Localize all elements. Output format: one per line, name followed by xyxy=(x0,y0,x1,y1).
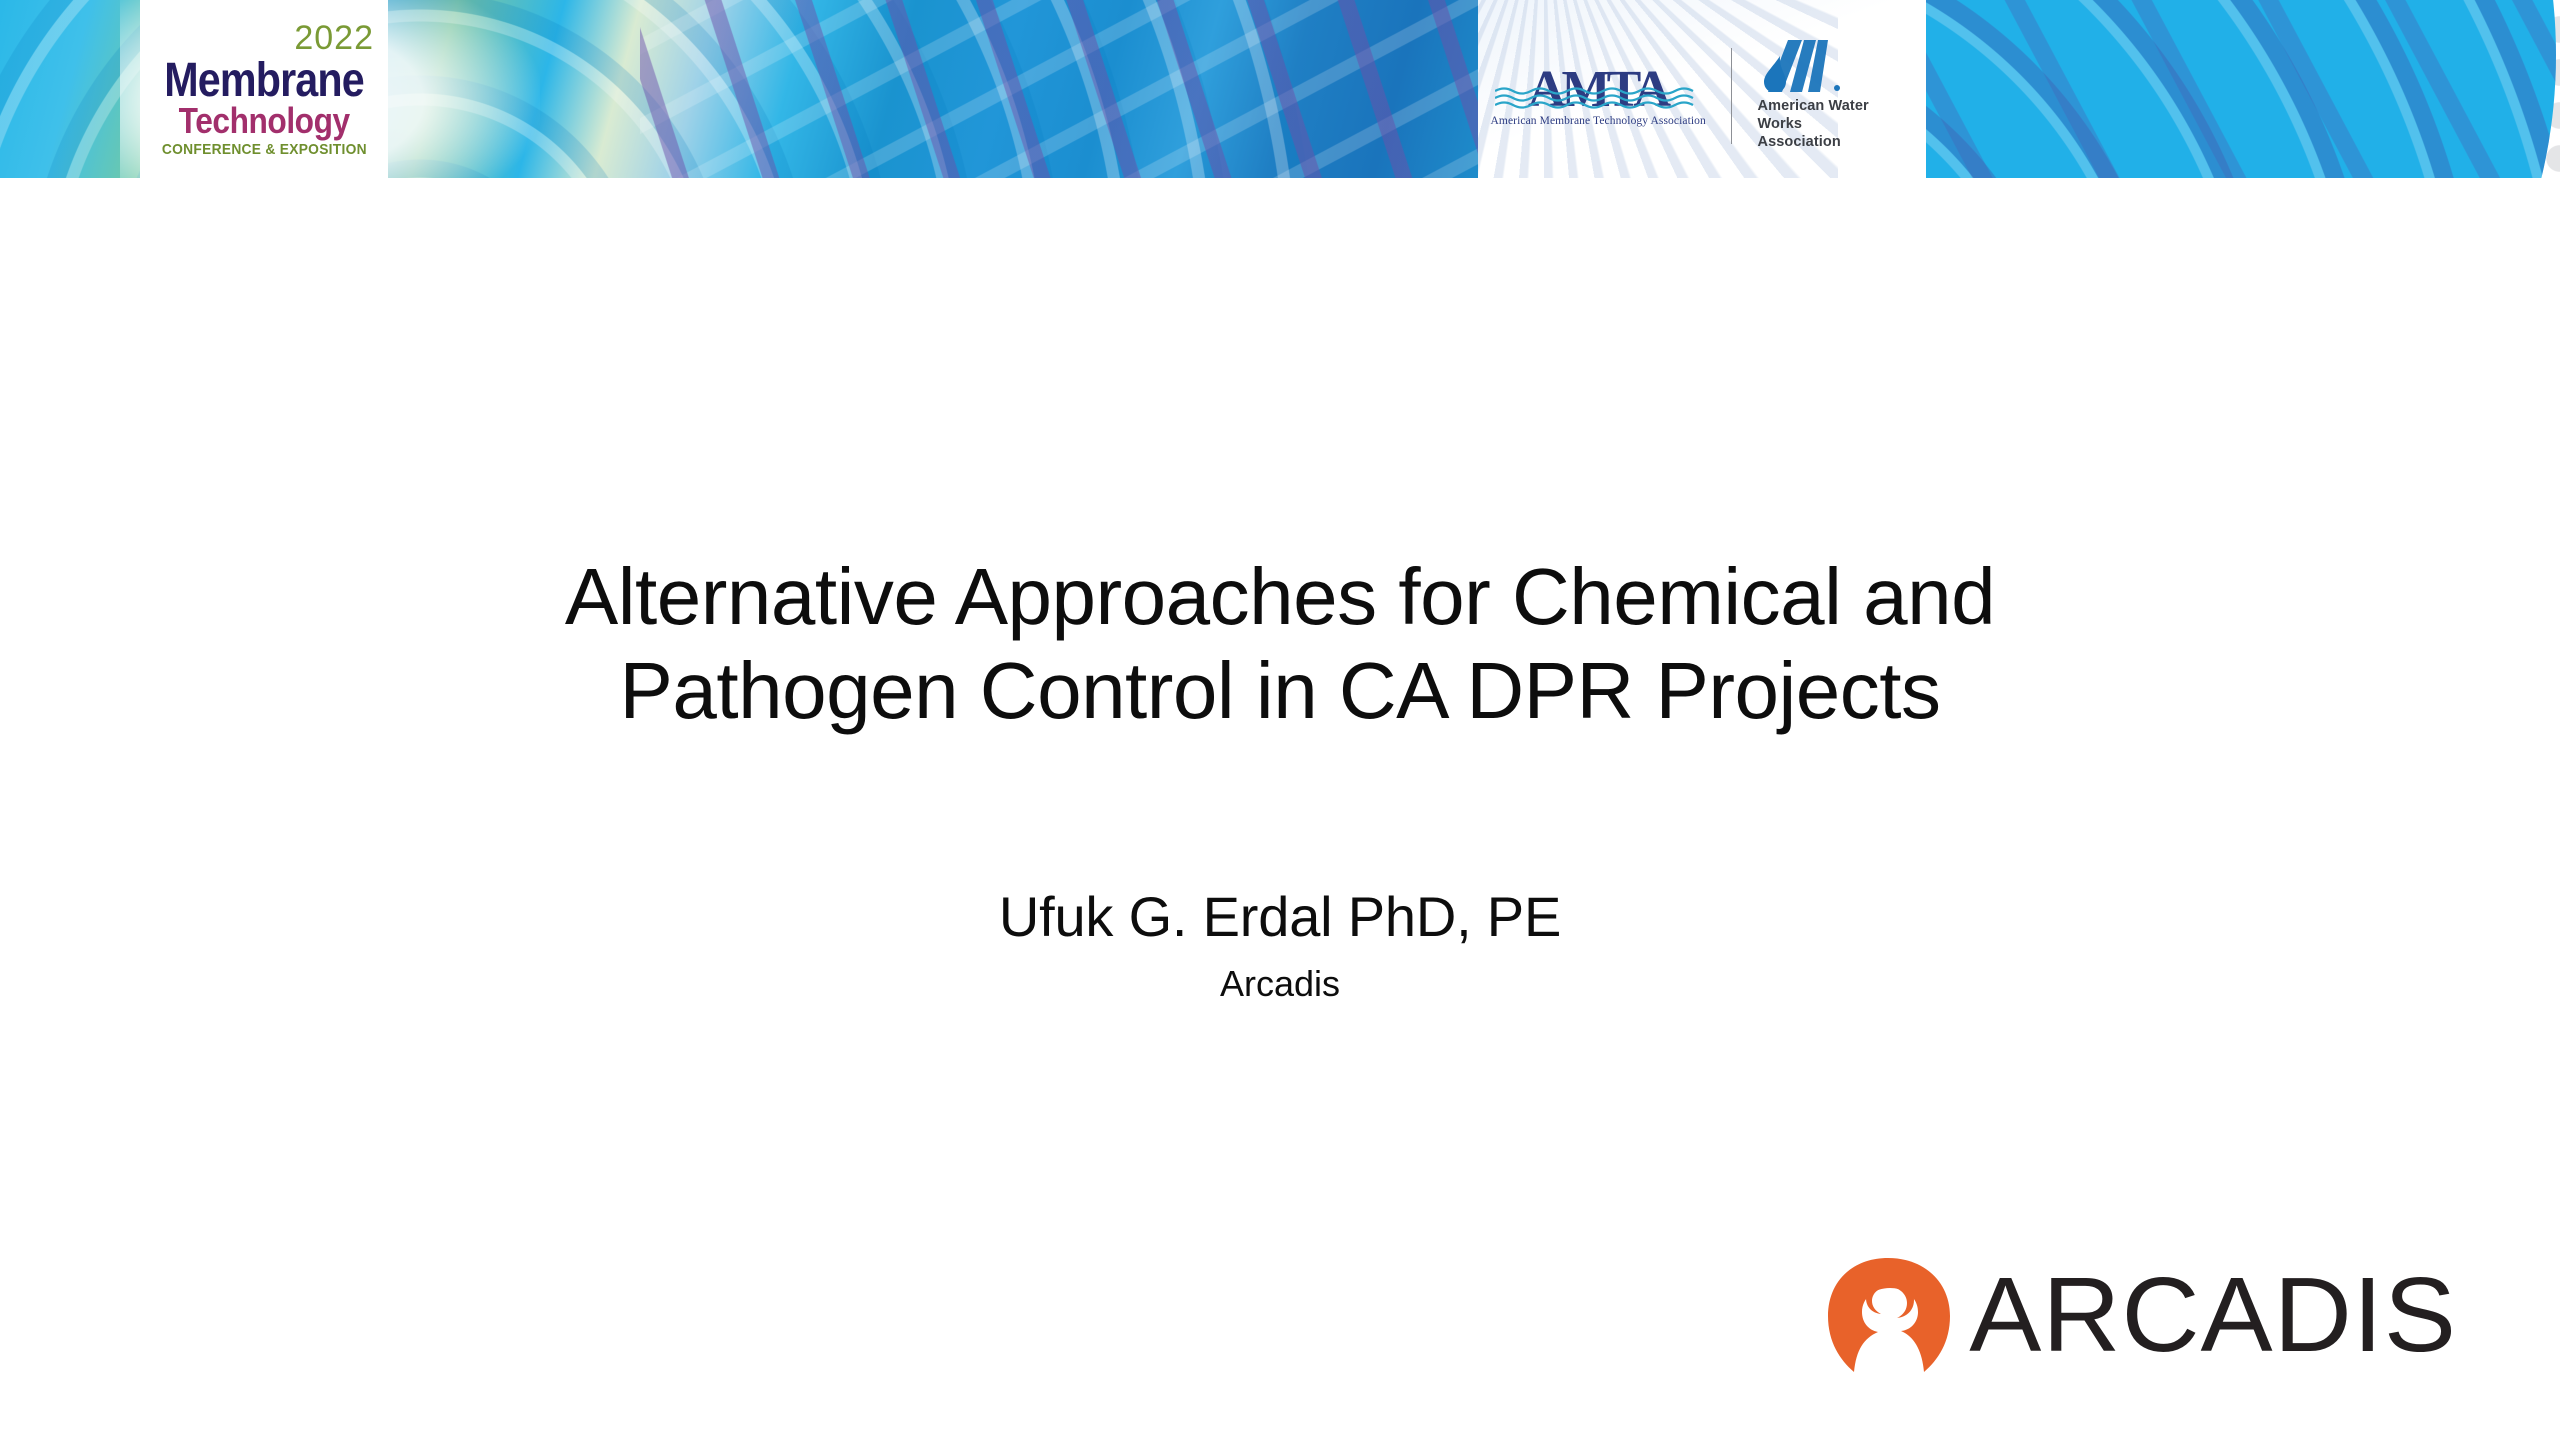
association-logos-area: AMTA American Membrane Technology Associ… xyxy=(1478,0,1926,178)
conference-logo-year: 2022 xyxy=(294,21,374,55)
awwa-logo: American Water Works Association xyxy=(1758,40,1914,151)
awwa-waterdrop-icon xyxy=(1758,40,1844,92)
page-title: Alternative Approaches for Chemical and … xyxy=(300,550,2260,739)
title-block: Alternative Approaches for Chemical and … xyxy=(300,550,2260,739)
author-block: Ufuk G. Erdal PhD, PE Arcadis xyxy=(430,885,2130,1008)
artwork-plaid-streaks xyxy=(640,0,1480,178)
slide-body: Alternative Approaches for Chemical and … xyxy=(0,180,2560,1440)
header-banner: 2022 Membrane Technology CONFERENCE & EX… xyxy=(0,0,2560,180)
logo-divider xyxy=(1731,48,1732,144)
amta-acronym: AMTA xyxy=(1491,65,1705,114)
conference-logo-membrane: Membrane xyxy=(164,57,364,105)
arcadis-logo: ARCADIS xyxy=(1824,1255,2514,1375)
page-title-line-1: Alternative Approaches for Chemical and xyxy=(300,550,2260,644)
awwa-name: American Water Works Association xyxy=(1758,98,1914,151)
author-name: Ufuk G. Erdal PhD, PE xyxy=(430,885,2130,949)
conference-logo-tagline: CONFERENCE & EXPOSITION xyxy=(162,142,367,157)
arcadis-swirl-icon xyxy=(1824,1256,1952,1374)
arcadis-wordmark: ARCADIS xyxy=(1969,1262,2457,1368)
awwa-name-line-2: Association xyxy=(1758,134,1914,152)
conference-logo: 2022 Membrane Technology CONFERENCE & EX… xyxy=(140,0,388,178)
header-artwork-right xyxy=(1926,0,2560,178)
artwork-blue-circle xyxy=(1926,0,2556,178)
conference-logo-technology: Technology xyxy=(178,103,349,139)
awwa-name-line-1: American Water Works xyxy=(1758,98,1914,133)
page-title-line-2: Pathogen Control in CA DPR Projects xyxy=(300,644,2260,738)
author-affiliation: Arcadis xyxy=(430,961,2130,1008)
amta-logo: AMTA American Membrane Technology Associ… xyxy=(1491,65,1705,127)
